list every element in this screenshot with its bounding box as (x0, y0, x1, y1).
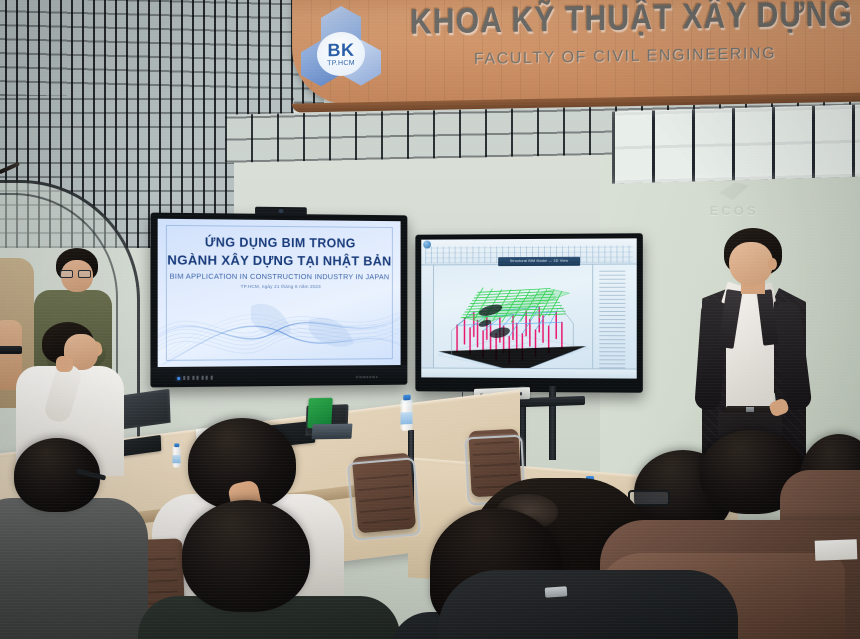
bk-tphcm-logo: BK TP.HCM (300, 5, 382, 99)
logo-initials: BK (328, 41, 355, 60)
attendee-dark-hair-center (158, 500, 388, 639)
bim-application-window: Structural BIM Model — 3D View (421, 238, 636, 378)
display-control-buttons[interactable] (177, 376, 212, 380)
head (182, 500, 310, 612)
ear (768, 258, 777, 270)
smartphone[interactable] (545, 586, 568, 598)
power-led-icon (177, 376, 180, 379)
title-slide: ỨNG DỤNG BIM TRONG NGÀNH XÂY DỰNG TẠI NH… (158, 219, 401, 367)
slide-subtitle-en: BIM APPLICATION IN CONSTRUCTION INDUSTRY… (158, 272, 401, 282)
logo-location: TP.HCM (327, 60, 355, 68)
hand (56, 356, 73, 372)
bottle-cap-icon (403, 395, 410, 401)
display-bezel-bottom: Viewsonic (150, 365, 407, 387)
water-bottle[interactable] (401, 399, 413, 431)
slide-wave-graphic (158, 284, 401, 367)
slide-title-line1: ỨNG DỤNG BIM TRONG (158, 235, 401, 251)
application-status-bar (421, 367, 636, 378)
wall-brand-logo: ECOS (680, 172, 788, 228)
eyeglasses-icon (60, 270, 94, 278)
bim-3d-structural-model[interactable] (433, 265, 592, 379)
wall-logo-text: ECOS (710, 203, 759, 218)
paper-sheet[interactable] (815, 539, 858, 560)
attendee-dark-jacket (438, 570, 738, 639)
display-camera-bar (255, 207, 307, 216)
swoosh-mark-icon (719, 182, 749, 200)
presentation-display-right[interactable]: Structural BIM Model — 3D View (415, 233, 642, 393)
torso (0, 498, 148, 639)
display-brand-label: Viewsonic (356, 374, 379, 379)
presentation-display-left[interactable]: ỨNG DỤNG BIM TRONG NGÀNH XÂY DỰNG TẠI NH… (150, 213, 407, 388)
seminar-room-photo: ECOS KHOA KỸ THUẬT XÂY DỰNG FACULTY OF C… (0, 0, 860, 639)
slide-title-line2: NGÀNH XÂY DỰNG TẠI NHẬT BẢN (158, 252, 401, 268)
attendee-grey-shirt (0, 438, 136, 639)
model-tree-panel[interactable] (592, 265, 637, 369)
ceiling-lattice-grid (0, 0, 324, 104)
face (729, 242, 773, 286)
